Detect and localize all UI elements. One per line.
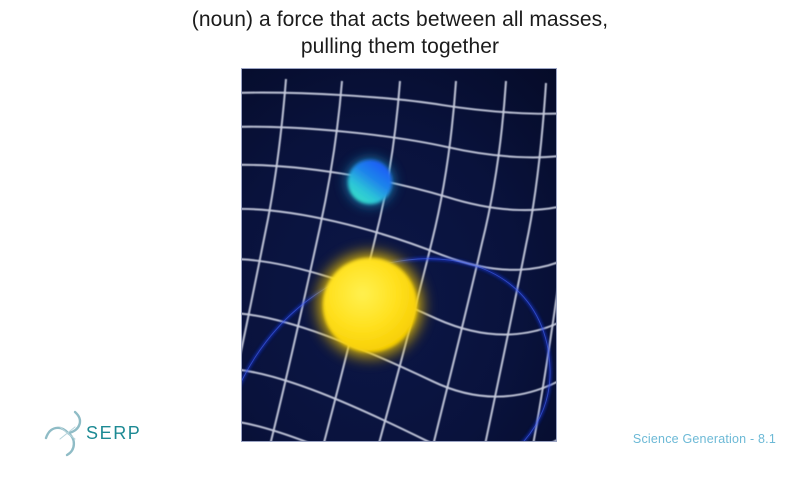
planet-body [340,152,400,212]
serp-swirl-icon [44,408,90,458]
serp-logo: SERP [44,406,174,460]
spacetime-curvature-image [242,69,556,441]
page-title-line-1: (noun) a force that acts between all mas… [0,6,800,33]
page-title: (noun) a force that acts between all mas… [0,6,800,60]
star-body [308,243,432,367]
page-title-line-2: pulling them together [0,33,800,60]
footer-attribution: Science Generation - 8.1 [633,432,776,446]
serp-wordmark: SERP [86,423,141,444]
spacetime-grid-svg [242,69,556,441]
